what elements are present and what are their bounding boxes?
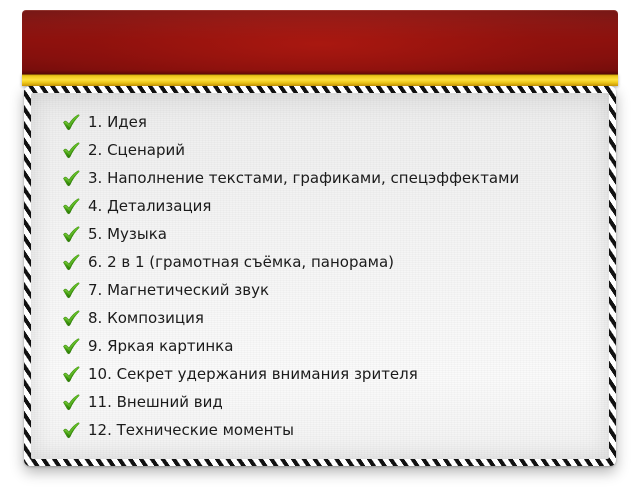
page-title: Видео за один день - это: bbox=[46, 22, 594, 70]
list-item: 6. 2 в 1 (грамотная съёмка, панорама) bbox=[31, 248, 609, 276]
green-check-icon bbox=[61, 140, 81, 160]
list-item: 11. Внешний вид bbox=[31, 388, 609, 416]
list-item-label: 8. Композиция bbox=[88, 309, 204, 327]
list-item-label: 3. Наполнение текстами, графиками, спецэ… bbox=[88, 169, 519, 187]
list-item: 3. Наполнение текстами, графиками, спецэ… bbox=[31, 164, 609, 192]
list-item-label: 2. Сценарий bbox=[88, 141, 185, 159]
list-item-label: 12. Технические моменты bbox=[88, 421, 294, 439]
striped-frame-border: 1. Идея bbox=[24, 86, 616, 466]
gold-divider-strip bbox=[22, 74, 618, 86]
list-item: 9. Яркая картинка bbox=[31, 332, 609, 360]
list-item: 12. Технические моменты bbox=[31, 416, 609, 444]
green-check-icon bbox=[61, 364, 81, 384]
green-check-icon bbox=[61, 112, 81, 132]
promo-poster: Видео за один день - это: bbox=[0, 0, 640, 492]
content-panel: 1. Идея bbox=[31, 93, 609, 459]
list-item-label: 1. Идея bbox=[88, 113, 147, 131]
green-check-icon bbox=[61, 420, 81, 440]
list-item-label: 10. Секрет удержания внимания зрителя bbox=[88, 365, 418, 383]
list-item: 8. Композиция bbox=[31, 304, 609, 332]
list-item-label: 4. Детализация bbox=[88, 197, 211, 215]
list-item: 5. Музыка bbox=[31, 220, 609, 248]
list-item-label: 9. Яркая картинка bbox=[88, 337, 233, 355]
list-item-label: 6. 2 в 1 (грамотная съёмка, панорама) bbox=[88, 253, 394, 271]
list-item: 4. Детализация bbox=[31, 192, 609, 220]
green-check-icon bbox=[61, 168, 81, 188]
list-item: 2. Сценарий bbox=[31, 136, 609, 164]
list-item: 10. Секрет удержания внимания зрителя bbox=[31, 360, 609, 388]
list-item-label: 5. Музыка bbox=[88, 225, 167, 243]
green-check-icon bbox=[61, 280, 81, 300]
checklist: 1. Идея bbox=[31, 93, 609, 444]
green-check-icon bbox=[61, 224, 81, 244]
list-item: 1. Идея bbox=[31, 108, 609, 136]
list-item: 7. Магнетический звук bbox=[31, 276, 609, 304]
list-item-label: 11. Внешний вид bbox=[88, 393, 223, 411]
list-item-label: 7. Магнетический звук bbox=[88, 281, 269, 299]
green-check-icon bbox=[61, 196, 81, 216]
green-check-icon bbox=[61, 252, 81, 272]
green-check-icon bbox=[61, 308, 81, 328]
green-check-icon bbox=[61, 392, 81, 412]
green-check-icon bbox=[61, 336, 81, 356]
